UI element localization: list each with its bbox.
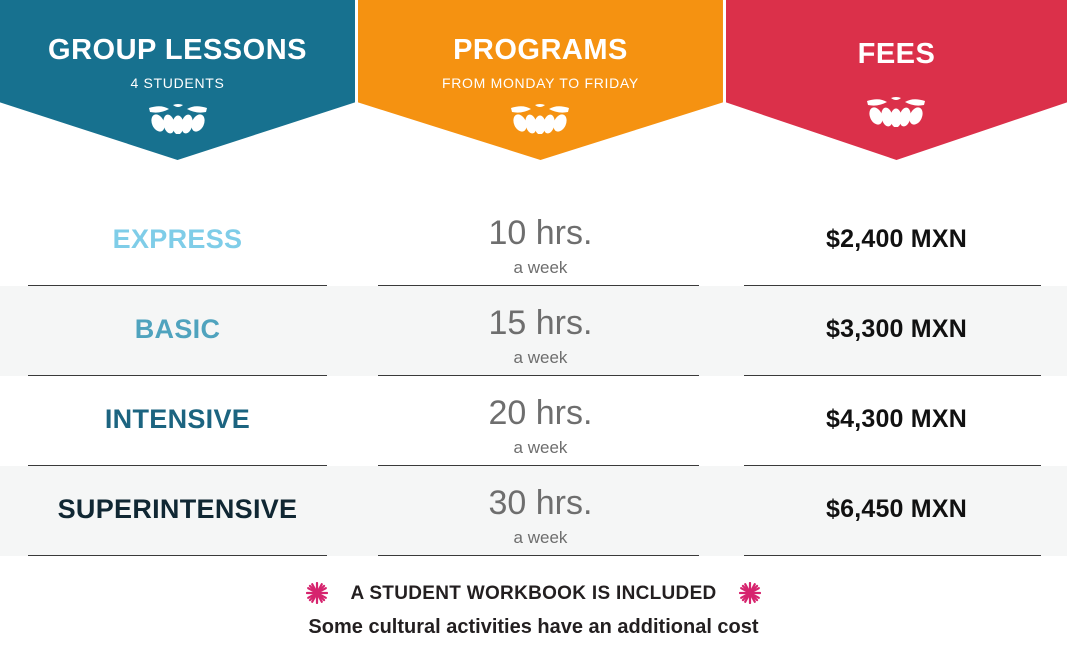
program-fee-cell: $4,300 MXN: [726, 376, 1067, 466]
banner-subtitle: FROM MONDAY TO FRIDAY: [442, 76, 639, 90]
program-period: a week: [514, 259, 568, 276]
program-name: INTENSIVE: [105, 406, 250, 433]
program-name-cell: BASIC: [0, 286, 355, 376]
banner-title: GROUP LESSONS: [48, 36, 307, 65]
table-row: INTENSIVE 20 hrs. a week $4,300 MXN: [0, 376, 1067, 466]
footer-note: A STUDENT WORKBOOK IS INCLUDED Some cult…: [0, 582, 1067, 637]
program-hours-cell: 15 hrs. a week: [358, 286, 723, 376]
starburst-icon: [739, 582, 761, 604]
program-hours: 15 hrs.: [489, 306, 593, 340]
banner-group-lessons: GROUP LESSONS 4 STUDENTS: [0, 0, 355, 160]
banner-title: FEES: [858, 40, 936, 69]
program-fee-cell: $2,400 MXN: [726, 196, 1067, 286]
program-hours: 30 hrs.: [489, 486, 593, 520]
petal-burst-icon: [865, 95, 927, 127]
program-period: a week: [514, 439, 568, 456]
program-name-cell: EXPRESS: [0, 196, 355, 286]
program-fee-cell: $6,450 MXN: [726, 466, 1067, 556]
program-name: SUPERINTENSIVE: [58, 496, 298, 523]
starburst-icon: [306, 582, 328, 604]
program-fee: $4,300 MXN: [826, 407, 967, 432]
petal-burst-icon: [509, 102, 571, 134]
banner-programs: PROGRAMS FROM MONDAY TO FRIDAY: [358, 0, 723, 160]
banner-title: PROGRAMS: [453, 36, 628, 65]
program-hours-cell: 10 hrs. a week: [358, 196, 723, 286]
table-row: SUPERINTENSIVE 30 hrs. a week $6,450 MXN: [0, 466, 1067, 556]
program-name-cell: SUPERINTENSIVE: [0, 466, 355, 556]
program-hours: 10 hrs.: [489, 216, 593, 250]
pricing-table: EXPRESS 10 hrs. a week $2,400 MXN BASIC …: [0, 196, 1067, 556]
program-fee: $3,300 MXN: [826, 317, 967, 342]
banner-subtitle: 4 STUDENTS: [130, 76, 224, 90]
program-fee: $6,450 MXN: [826, 497, 967, 522]
program-period: a week: [514, 529, 568, 546]
program-name: BASIC: [135, 316, 221, 343]
program-fee-cell: $3,300 MXN: [726, 286, 1067, 376]
table-row: EXPRESS 10 hrs. a week $2,400 MXN: [0, 196, 1067, 286]
banner-fees: FEES: [726, 0, 1067, 160]
program-hours: 20 hrs.: [489, 396, 593, 430]
program-hours-cell: 30 hrs. a week: [358, 466, 723, 556]
footer-line-1: A STUDENT WORKBOOK IS INCLUDED: [350, 584, 716, 603]
petal-burst-icon: [147, 102, 209, 134]
program-name: EXPRESS: [113, 226, 243, 253]
program-period: a week: [514, 349, 568, 366]
table-row: BASIC 15 hrs. a week $3,300 MXN: [0, 286, 1067, 376]
header-banners: GROUP LESSONS 4 STUDENTS: [0, 0, 1067, 160]
program-name-cell: INTENSIVE: [0, 376, 355, 466]
program-hours-cell: 20 hrs. a week: [358, 376, 723, 466]
footer-line-2: Some cultural activities have an additio…: [308, 617, 758, 637]
program-fee: $2,400 MXN: [826, 227, 967, 252]
